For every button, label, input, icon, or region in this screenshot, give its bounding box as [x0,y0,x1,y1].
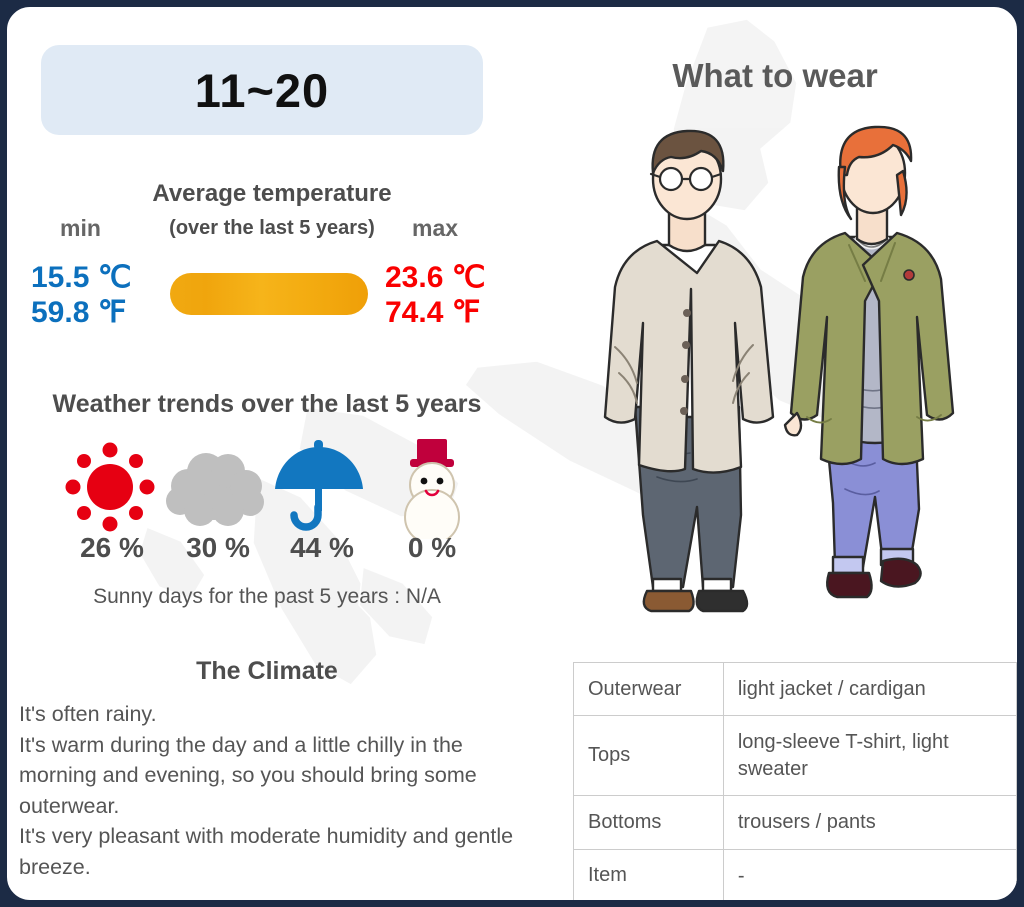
weather-percentages-row: 26 % 30 % 44 % 0 % [47,532,497,572]
cloudy-percentage: 30 % [163,532,273,564]
rainy-icon-cell [264,429,374,544]
max-temperature-fahrenheit: 74.4 ℉ [385,295,520,330]
min-temperature-celsius: 15.5 ℃ [31,260,161,295]
max-temperature-celsius: 23.6 ℃ [385,260,520,295]
climate-description: It's often rainy. It's warm during the d… [19,699,514,882]
umbrella-icon [271,437,367,537]
average-temperature-subheading: (over the last 5 years) [169,217,375,239]
wear-category-bottoms: Bottoms [574,796,724,849]
weather-icons-row [47,429,497,549]
wear-category-item: Item [574,849,724,902]
cloud-icon [162,446,266,528]
weather-outfit-card: 11~20 Average temperature (over the last… [4,4,1020,903]
right-column: What to wear [527,7,1020,903]
wear-value-outerwear: light jacket / cardigan [723,663,1016,716]
what-to-wear-title: What to wear [527,57,1020,95]
snowman-icon [390,435,474,539]
wear-category-outerwear: Outerwear [574,663,724,716]
table-row: Bottoms trousers / pants [574,796,1017,849]
max-temperature-values: 23.6 ℃ 74.4 ℉ [385,260,520,331]
sunny-days-note: Sunny days for the past 5 years : N/A [7,585,527,609]
table-row: Outerwear light jacket / cardigan [574,663,1017,716]
min-temperature-values: 15.5 ℃ 59.8 ℉ [31,260,161,331]
wear-category-tops: Tops [574,716,724,796]
temperature-gradient-bar [170,273,368,315]
table-row: Tops long-sleeve T-shirt, light sweater [574,716,1017,796]
wear-value-bottoms: trousers / pants [723,796,1016,849]
rainy-percentage: 44 % [267,532,377,564]
male-figure [605,131,773,611]
average-temperature-title: Average temperature (over the last 5 yea… [147,177,397,243]
wear-value-item: - [723,849,1016,902]
min-temperature-fahrenheit: 59.8 ℉ [31,295,161,330]
female-figure [785,127,953,597]
sunny-percentage: 26 % [57,532,167,564]
date-range-badge: 11~20 [41,45,483,135]
date-range-label: 11~20 [195,63,329,118]
weather-trends-title: Weather trends over the last 5 years [7,390,527,419]
cloudy-icon-cell [159,429,269,544]
left-column: 11~20 Average temperature (over the last… [7,7,527,903]
climate-title: The Climate [7,657,527,686]
max-label: max [412,215,458,242]
table-row: Item - [574,849,1017,902]
outfit-illustration [557,117,1017,647]
sunny-icon-cell [55,429,165,544]
sun-icon [60,437,160,537]
wear-value-tops: long-sleeve T-shirt, light sweater [723,716,1016,796]
min-label: min [60,215,101,242]
snowy-icon-cell [377,429,487,544]
snowy-percentage: 0 % [377,532,487,564]
what-to-wear-table: Outerwear light jacket / cardigan Tops l… [573,662,1017,903]
average-temperature-heading: Average temperature [152,180,391,207]
